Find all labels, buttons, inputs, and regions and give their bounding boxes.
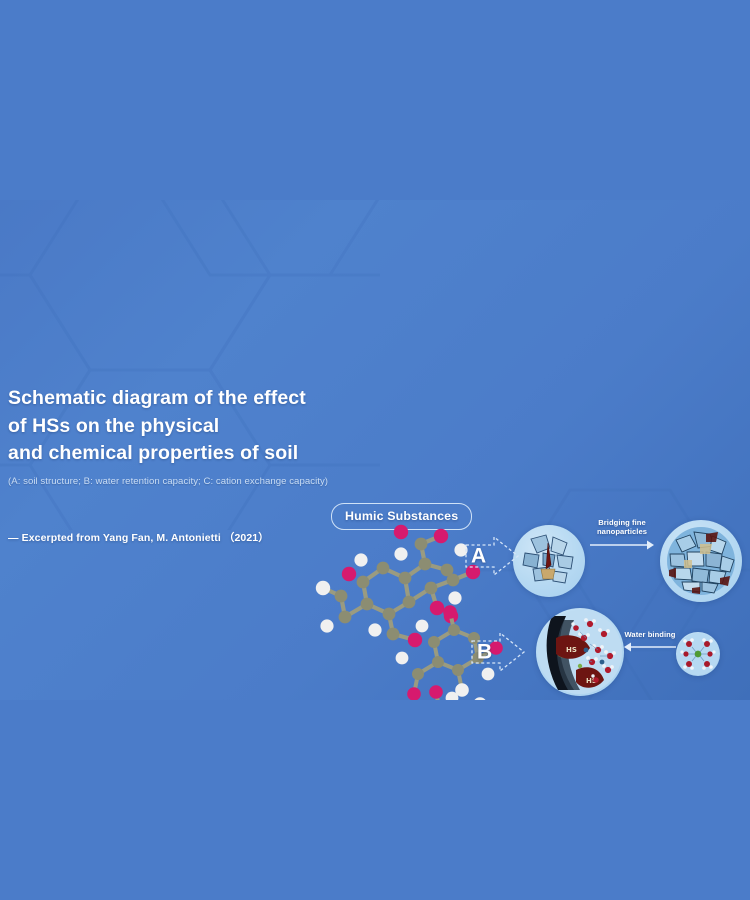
humic-layer-water-circle: HS HS xyxy=(536,608,624,696)
humic-molecule-bottom xyxy=(360,678,525,700)
aggregated-particles-circle xyxy=(660,520,742,602)
schematic-figure: Schematic diagram of the effect of HSs o… xyxy=(0,200,750,700)
fine-nanoparticles-circle xyxy=(513,525,585,597)
letterbox-bottom-band xyxy=(0,700,750,900)
title-line-3: and chemical properties of soil xyxy=(8,440,348,468)
step-b-letter: B xyxy=(477,642,492,663)
step-b-arrow: B xyxy=(470,630,526,674)
legend-key-text: (A: soil structure; B: water retention c… xyxy=(8,475,348,488)
step-b-flow: Water binding xyxy=(620,630,680,653)
title-line-1: Schematic diagram of the effect xyxy=(8,385,348,413)
step-a-letter: A xyxy=(471,546,486,567)
humic-substances-badge: Humic Substances xyxy=(331,503,472,530)
page-title: Schematic diagram of the effect of HSs o… xyxy=(8,385,348,468)
arrow-right-icon xyxy=(589,539,655,551)
svg-text:HS: HS xyxy=(566,646,577,654)
hydrated-cation-circle xyxy=(676,632,720,676)
step-b-flow-caption: Water binding xyxy=(620,630,680,639)
step-a-flow: Bridging fine nanoparticles xyxy=(585,518,659,551)
page-root: Schematic diagram of the effect of HSs o… xyxy=(0,0,750,900)
source-citation: — Excerpted from Yang Fan, M. Antonietti… xyxy=(8,530,348,545)
step-a-arrow: A xyxy=(464,534,520,578)
figure-caption-block: Schematic diagram of the effect of HSs o… xyxy=(8,385,348,545)
arrow-left-icon xyxy=(623,641,677,653)
step-a-flow-caption: Bridging fine nanoparticles xyxy=(585,518,659,537)
title-line-2: of HSs on the physical xyxy=(8,413,348,441)
letterbox-top-band xyxy=(0,0,750,200)
